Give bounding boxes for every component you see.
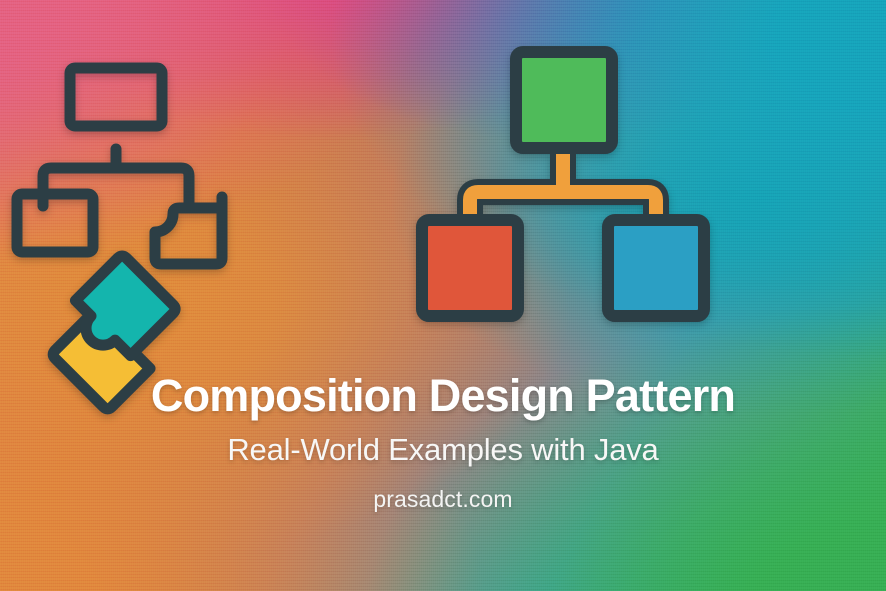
banner-card: Composition Design Pattern Real-World Ex… [0, 0, 886, 591]
banner-subtitle: Real-World Examples with Java [20, 433, 866, 467]
hierarchy-child-right-puzzle-box [155, 197, 222, 264]
left-illustration [8, 46, 258, 376]
tree-leaf-node-blue [608, 220, 704, 316]
tree-leaf-node-red [422, 220, 518, 316]
connector-bus [43, 168, 189, 206]
banner-site-url: prasadct.com [20, 486, 866, 513]
hierarchy-puzzle-svg [8, 46, 258, 376]
right-illustration [408, 40, 738, 350]
hierarchy-child-left-box [17, 194, 93, 252]
text-block: Composition Design Pattern Real-World Ex… [0, 372, 886, 513]
banner-title: Composition Design Pattern [20, 372, 866, 420]
tree-root-node-green [516, 52, 612, 148]
composite-tree-svg [408, 40, 738, 350]
hierarchy-root-box [70, 68, 162, 126]
